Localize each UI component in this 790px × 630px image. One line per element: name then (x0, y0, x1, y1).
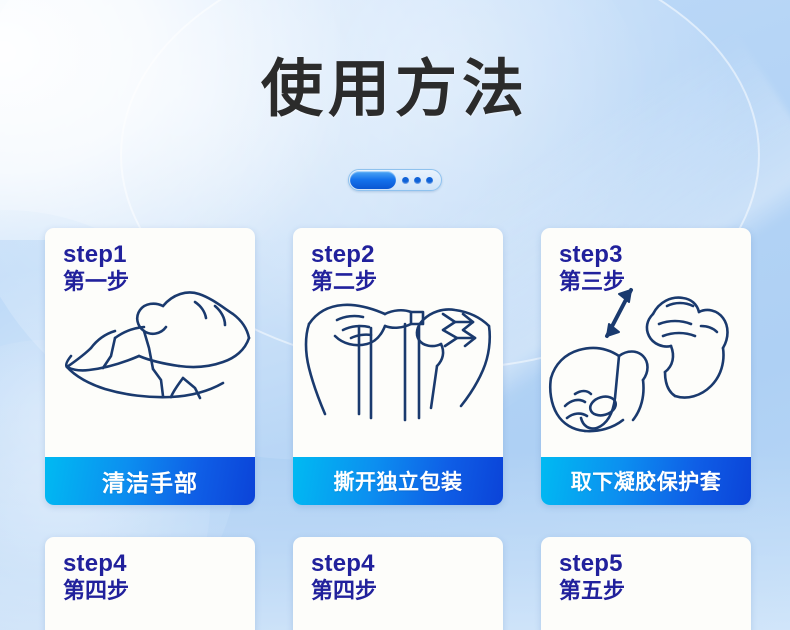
step-label-cn: 第三步 (559, 270, 625, 295)
step-card-4[interactable]: step4 第四步 (45, 537, 255, 630)
step-label-en: step2 (311, 242, 377, 268)
page-content: 使用方法 step1 第一步 (0, 0, 790, 630)
capsule-dot-1 (402, 177, 409, 184)
step-label-en: step4 (311, 551, 377, 577)
step-card-5-body: step4 第四步 (293, 537, 503, 630)
step-card-1-body: step1 第一步 (45, 228, 255, 457)
step-card-1[interactable]: step1 第一步 (45, 228, 255, 505)
step-card-2-heading: step2 第二步 (311, 242, 377, 296)
step-card-3-body: step3 第三步 (541, 228, 751, 457)
step-card-6-body: step5 第五步 (541, 537, 751, 630)
step-card-4-body: step4 第四步 (45, 537, 255, 630)
capsule-dots (402, 170, 433, 190)
step-card-4-heading: step4 第四步 (63, 551, 129, 605)
step-card-6-heading: step5 第五步 (559, 551, 625, 605)
step-card-6[interactable]: step5 第五步 (541, 537, 751, 630)
step-card-2[interactable]: step2 第二步 (293, 228, 503, 505)
capsule-dot-3 (426, 177, 433, 184)
capsule-fill (350, 171, 396, 189)
step-card-5[interactable]: step4 第四步 (293, 537, 503, 630)
step-caption-2: 撕开独立包装 (293, 457, 503, 505)
steps-grid: step1 第一步 (45, 228, 751, 630)
step-label-cn: 第一步 (63, 270, 129, 295)
step-card-1-heading: step1 第一步 (63, 242, 129, 296)
step-label-en: step3 (559, 242, 625, 268)
step-card-3[interactable]: step3 第三步 (541, 228, 751, 505)
progress-capsule-icon (348, 169, 442, 191)
step-label-cn: 第四步 (311, 579, 377, 604)
capsule-dot-2 (414, 177, 421, 184)
step-label-cn: 第二步 (311, 270, 377, 295)
step-caption-3: 取下凝胶保护套 (541, 457, 751, 505)
step-label-cn: 第五步 (559, 579, 625, 604)
step-card-2-body: step2 第二步 (293, 228, 503, 457)
double-arrow (607, 290, 631, 336)
page-title: 使用方法 (0, 58, 790, 120)
step-label-en: step4 (63, 551, 129, 577)
step-card-5-heading: step4 第四步 (311, 551, 377, 605)
step-caption-1: 清洁手部 (45, 457, 255, 505)
decorative-capsule-wrap (0, 169, 790, 191)
step-label-en: step1 (63, 242, 129, 268)
step-card-3-heading: step3 第三步 (559, 242, 625, 296)
step-label-en: step5 (559, 551, 625, 577)
step-label-cn: 第四步 (63, 579, 129, 604)
